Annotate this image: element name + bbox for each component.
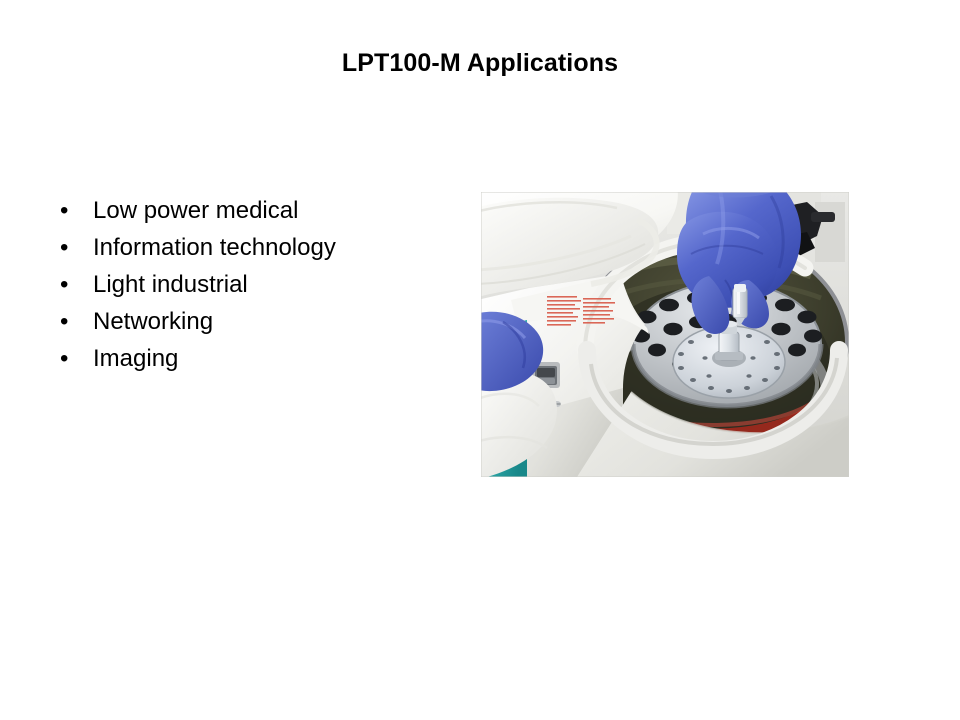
- bullet-marker-icon: •: [60, 194, 74, 228]
- bullet-marker-icon: •: [60, 342, 74, 376]
- centrifuge-illustration: [481, 192, 849, 477]
- bullet-marker-icon: •: [60, 231, 74, 265]
- applications-bullet-list: • Low power medical • Information techno…: [56, 194, 456, 379]
- list-item-label: Low power medical: [93, 197, 298, 224]
- list-item: • Networking: [56, 305, 456, 342]
- background-panel-right: [815, 202, 845, 262]
- page-title: LPT100-M Applications: [0, 48, 960, 78]
- list-item-label: Information technology: [93, 234, 336, 261]
- bullet-marker-icon: •: [60, 305, 74, 339]
- list-item: • Light industrial: [56, 268, 456, 305]
- bullet-marker-icon: •: [60, 268, 74, 302]
- list-item-label: Networking: [93, 308, 213, 335]
- centrifuge-photo: [481, 192, 849, 477]
- list-item: • Information technology: [56, 231, 456, 268]
- list-item: • Low power medical: [56, 194, 456, 231]
- list-item-label: Light industrial: [93, 271, 248, 298]
- list-item: • Imaging: [56, 342, 456, 379]
- list-item-label: Imaging: [93, 345, 178, 372]
